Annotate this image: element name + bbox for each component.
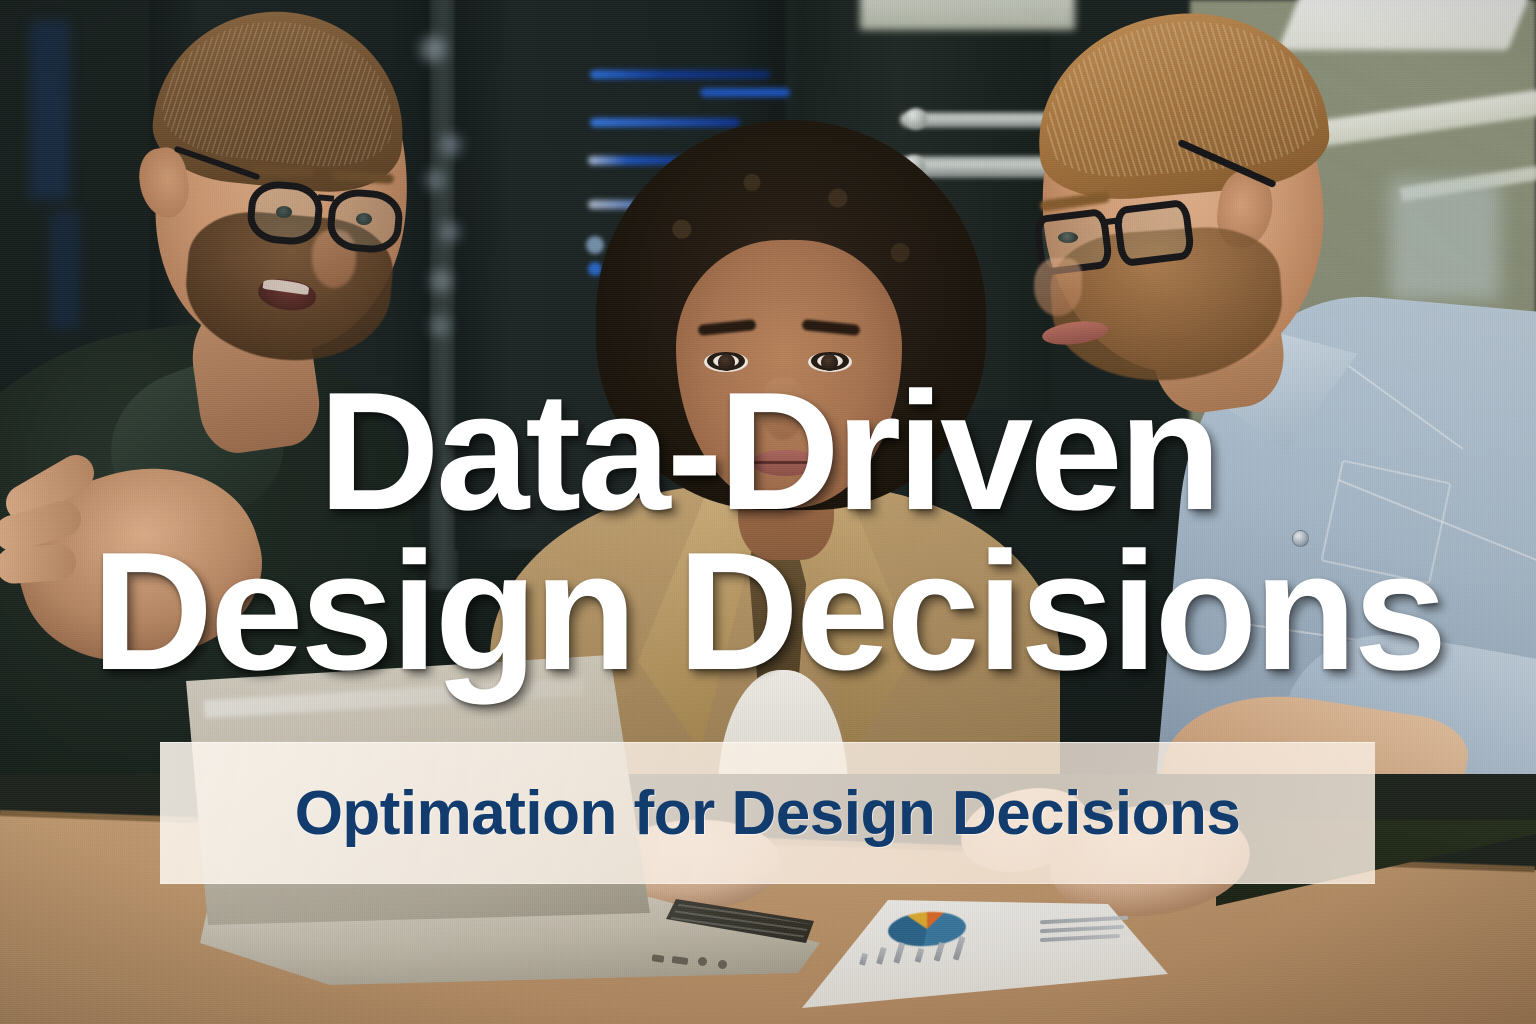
bar-chart-marks: [859, 927, 990, 966]
paper-text-line: [1040, 934, 1120, 942]
bar-mark: [934, 942, 945, 962]
left-man-eyebrow: [252, 165, 314, 177]
laptop-port: [652, 954, 665, 963]
right-man-eye: [1058, 232, 1078, 243]
promo-banner-image: Data-Driven Design Decisions Optimation …: [0, 0, 1536, 1024]
left-man-glasses-bridge: [318, 194, 334, 201]
subtitle-banner: Optimation for Design Decisions: [160, 742, 1375, 884]
subtitle-text: Optimation for Design Decisions: [295, 778, 1241, 849]
center-woman-pupil: [718, 354, 735, 371]
bar-mark: [915, 948, 925, 963]
bar-mark: [953, 936, 966, 961]
laptop-port: [698, 957, 707, 966]
server-led-row: [590, 118, 740, 127]
server-led-row: [590, 70, 770, 79]
center-woman-eye: [704, 352, 748, 372]
right-man-glasses-lens: [1113, 199, 1196, 268]
left-man-eye: [356, 213, 372, 225]
paper-text-lines: [1040, 918, 1130, 945]
bar-mark: [876, 947, 887, 965]
bar-mark: [859, 953, 868, 966]
right-man-shirt-button: [1292, 530, 1309, 547]
right-man-hair-texture: [1038, 10, 1322, 183]
center-woman-nose: [762, 378, 804, 440]
laptop-port: [718, 960, 727, 969]
paper-text-line: [1040, 925, 1124, 933]
right-man-nose: [1034, 258, 1082, 316]
server-led-row: [700, 88, 790, 97]
left-man-finger: [0, 543, 77, 584]
left-man-eye: [276, 206, 292, 218]
center-woman-eye: [808, 352, 852, 372]
server-rail-knob: [905, 108, 927, 130]
center-woman-pupil: [821, 354, 838, 371]
center-woman-lip-line: [754, 461, 818, 464]
bar-mark: [893, 942, 905, 964]
